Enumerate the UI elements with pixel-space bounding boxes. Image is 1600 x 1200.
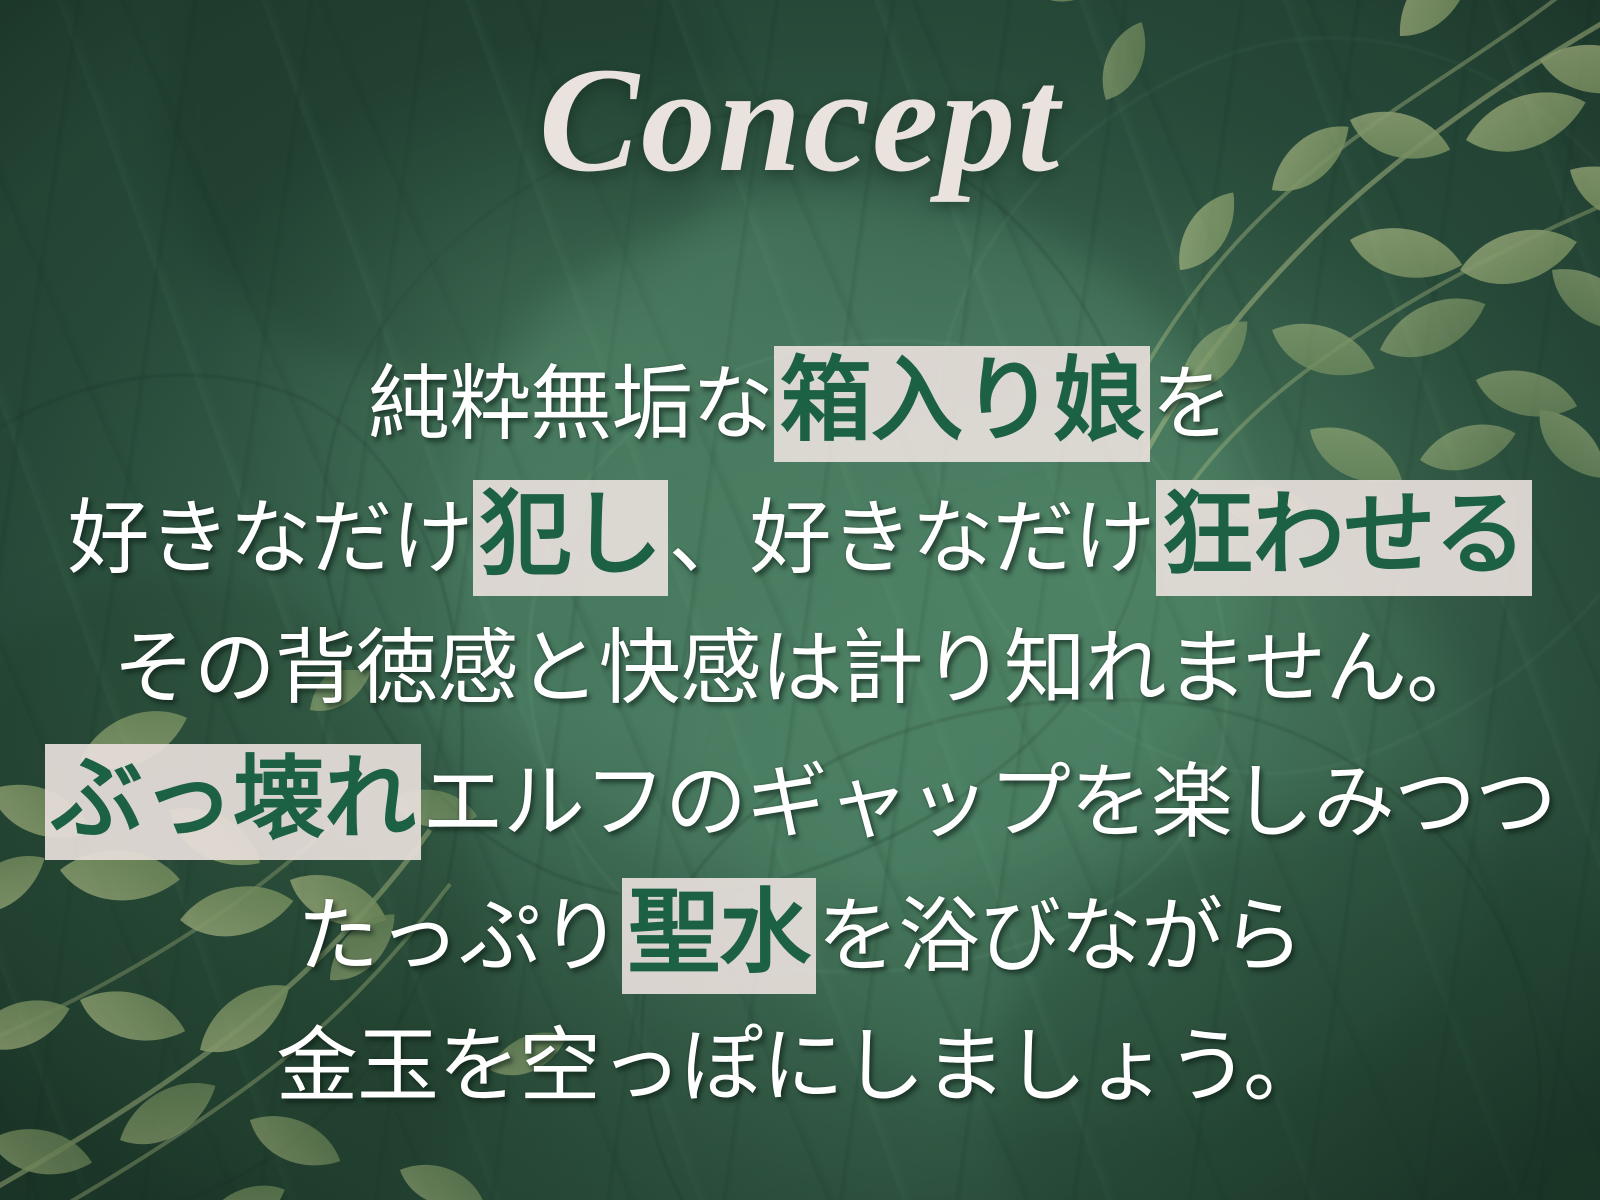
- plain-phrase: を浴びながら: [817, 891, 1303, 982]
- plain-phrase: その背徳感と快感は計り知れません。: [113, 623, 1488, 714]
- poster-content: Concept 純粋無垢な箱入り娘を好きなだけ犯し、好きなだけ狂わせるその背徳感…: [0, 0, 1600, 1200]
- plain-phrase: 好きなだけ: [67, 493, 472, 584]
- highlighted-phrase: ぶっ壊れ: [45, 744, 421, 860]
- concept-body-text: 純粋無垢な箱入り娘を好きなだけ犯し、好きなだけ狂わせるその背徳感と快感は計り知れ…: [0, 336, 1600, 1132]
- page-title: Concept: [0, 42, 1600, 200]
- concept-poster: Concept 純粋無垢な箱入り娘を好きなだけ犯し、好きなだけ狂わせるその背徳感…: [0, 0, 1600, 1200]
- plain-phrase: 純粋無垢な: [368, 359, 773, 450]
- highlighted-phrase: 狂わせる: [1156, 480, 1532, 596]
- highlighted-phrase: 箱入り娘: [774, 346, 1150, 462]
- concept-line: たっぷり聖水を浴びながら: [0, 868, 1600, 1002]
- plain-phrase: を: [1151, 359, 1232, 450]
- highlighted-phrase: 犯し: [473, 480, 667, 596]
- concept-line: 純粋無垢な箱入り娘を: [0, 336, 1600, 470]
- concept-line: 好きなだけ犯し、好きなだけ狂わせる: [0, 470, 1600, 604]
- plain-phrase: たっぷり: [297, 891, 621, 982]
- plain-phrase: エルフのギャップを楽しみつつ: [422, 757, 1556, 848]
- plain-phrase: 、好きなだけ: [669, 493, 1155, 584]
- highlighted-phrase: 聖水: [622, 878, 816, 994]
- concept-line: 金玉を空っぽにしましょう。: [0, 1002, 1600, 1132]
- concept-line: ぶっ壊れエルフのギャップを楽しみつつ: [0, 734, 1600, 868]
- plain-phrase: 金玉を空っぽにしましょう。: [276, 1021, 1324, 1112]
- concept-line: その背徳感と快感は計り知れません。: [0, 604, 1600, 734]
